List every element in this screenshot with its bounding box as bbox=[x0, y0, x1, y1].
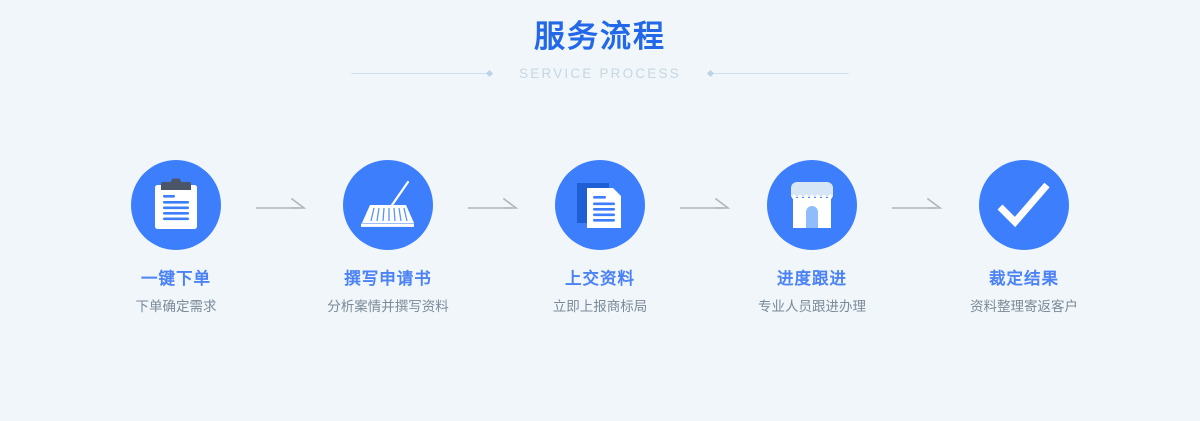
step-description: 立即上报商标局 bbox=[553, 298, 648, 316]
subtitle-row: SERVICE PROCESS bbox=[0, 63, 1200, 83]
process-step-1[interactable]: 一键下单 下单确定需求 bbox=[101, 160, 251, 316]
connector-arrow-2 bbox=[463, 160, 525, 250]
step-title: 上交资料 bbox=[565, 269, 635, 289]
step-icon-circle bbox=[555, 160, 645, 250]
arrow-right-icon bbox=[256, 197, 308, 213]
connector-arrow-4 bbox=[887, 160, 949, 250]
divider-line-left bbox=[351, 73, 491, 74]
page-subtitle: SERVICE PROCESS bbox=[519, 66, 681, 81]
process-step-2[interactable]: 撰写申请书 分析案情并撰写资料 bbox=[313, 160, 463, 316]
connector-arrow-1 bbox=[251, 160, 313, 250]
clipboard-icon bbox=[150, 177, 202, 233]
step-icon-circle bbox=[131, 160, 221, 250]
process-step-5[interactable]: 裁定结果 资料整理寄返客户 bbox=[949, 160, 1099, 316]
step-title: 一键下单 bbox=[141, 269, 211, 289]
documents-icon bbox=[573, 178, 627, 232]
section-header: 服务流程 SERVICE PROCESS bbox=[0, 18, 1200, 83]
step-icon-circle bbox=[767, 160, 857, 250]
step-icon-circle bbox=[979, 160, 1069, 250]
arrow-right-icon bbox=[892, 197, 944, 213]
arrow-right-icon bbox=[680, 197, 732, 213]
step-title: 裁定结果 bbox=[989, 269, 1059, 289]
page-title: 服务流程 bbox=[0, 18, 1200, 56]
step-description: 下单确定需求 bbox=[136, 298, 217, 316]
diamond-dot-icon bbox=[707, 69, 714, 76]
arrow-right-icon bbox=[468, 197, 520, 213]
connector-arrow-3 bbox=[675, 160, 737, 250]
broom-icon bbox=[359, 177, 417, 233]
step-title: 进度跟进 bbox=[777, 269, 847, 289]
step-description: 专业人员跟进办理 bbox=[758, 298, 866, 316]
step-description: 资料整理寄返客户 bbox=[970, 298, 1078, 316]
diamond-dot-icon bbox=[486, 69, 493, 76]
process-step-3[interactable]: 上交资料 立即上报商标局 bbox=[525, 160, 675, 316]
step-title: 撰写申请书 bbox=[344, 269, 432, 289]
step-icon-circle bbox=[343, 160, 433, 250]
checkmark-icon bbox=[996, 181, 1052, 229]
process-step-4[interactable]: 进度跟进 专业人员跟进办理 bbox=[737, 160, 887, 316]
step-description: 分析案情并撰写资料 bbox=[327, 298, 449, 316]
process-steps: 一键下单 下单确定需求 bbox=[0, 160, 1200, 316]
divider-line-right bbox=[709, 73, 849, 74]
storefront-icon bbox=[785, 180, 839, 230]
